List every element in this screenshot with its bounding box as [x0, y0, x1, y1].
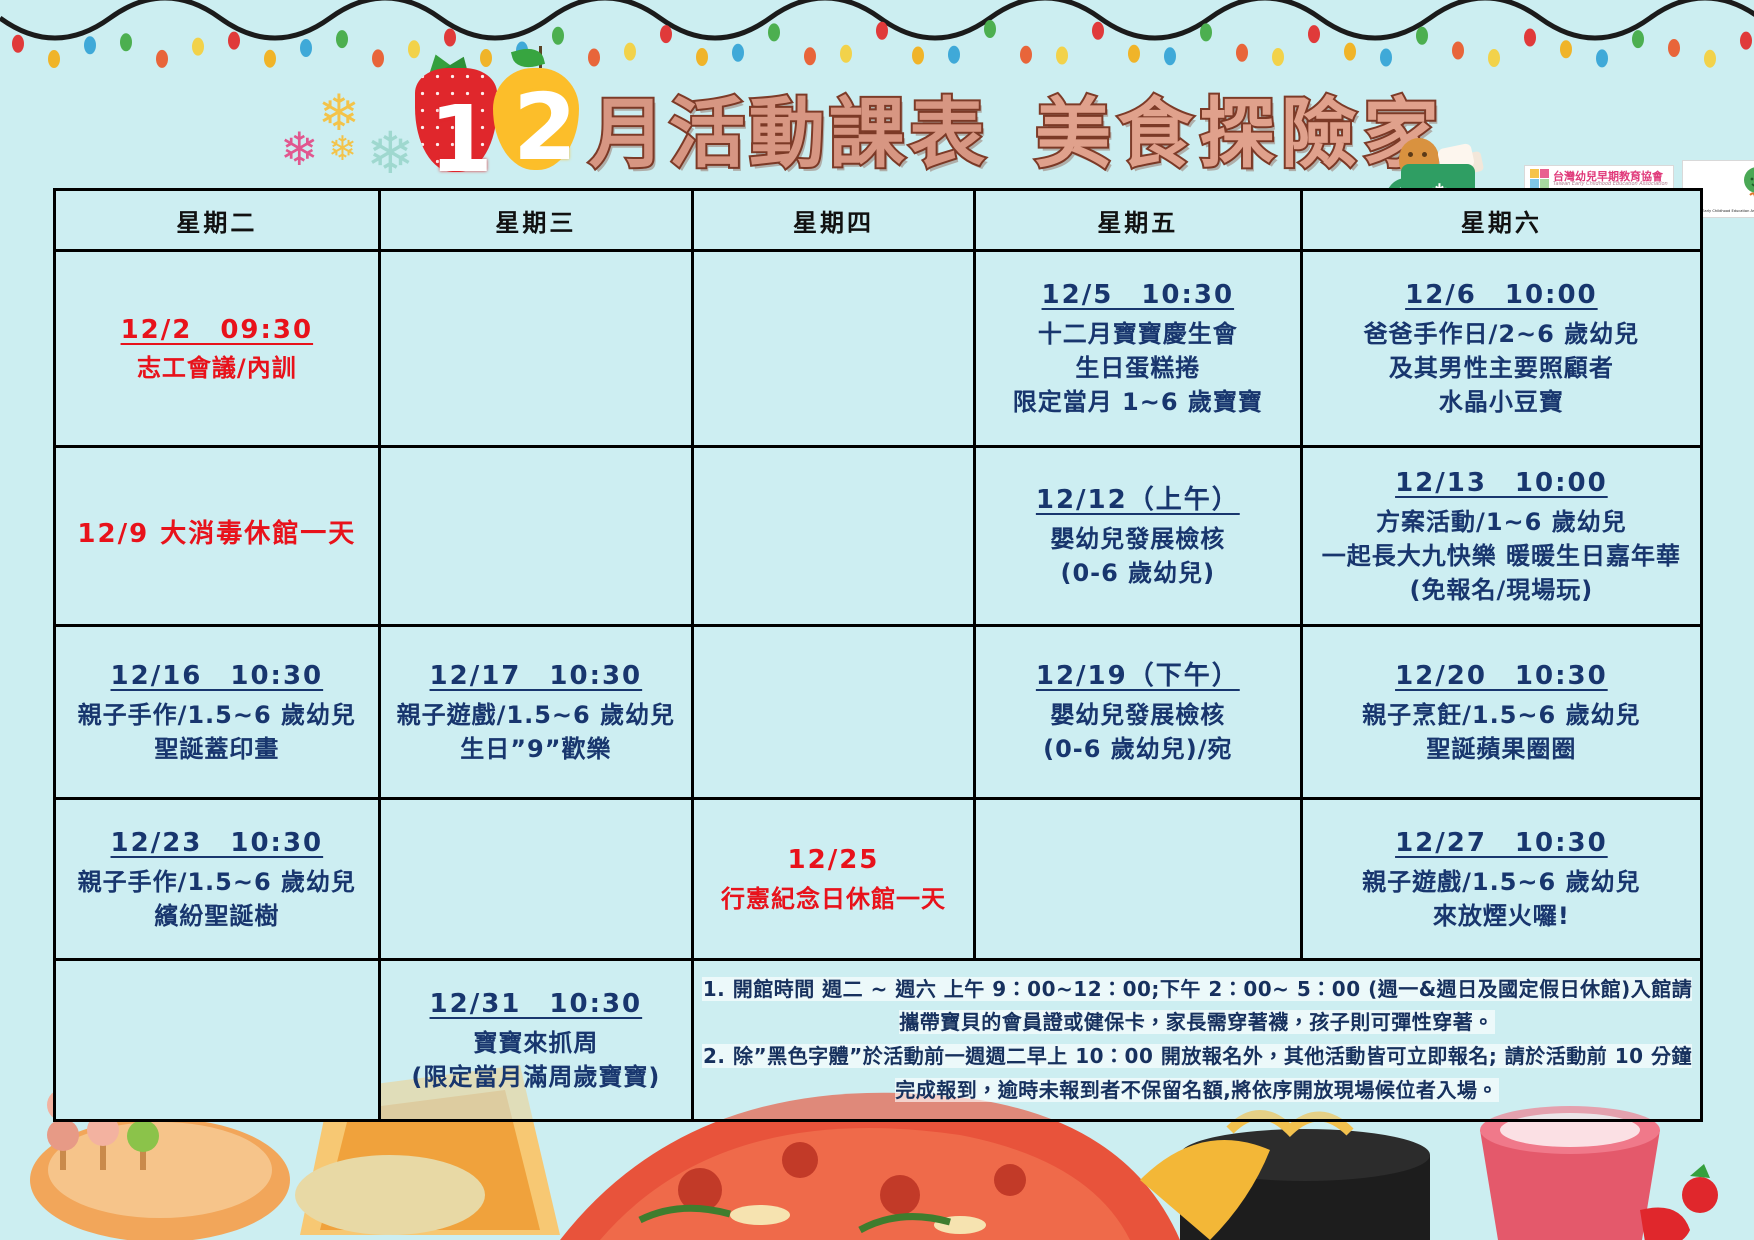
event-description-line: (限定當月滿周歲寶寶) [383, 1060, 689, 1094]
schedule-cell-wednesday-row3: 12/17 10:30親子遊戲/1.5~6 歲幼兒生日”9”歡樂 [379, 626, 692, 799]
light-bulb-icon [300, 39, 312, 57]
light-bulb-icon [660, 25, 672, 43]
event-description-line: 方案活動/1~6 歲幼兒 [1305, 505, 1698, 539]
event-description-line: 限定當月 1~6 歲寶寶 [978, 385, 1298, 419]
event-date-time: 12/20 10:30 [1395, 658, 1608, 695]
event-description-line: 來放煙火囉! [1305, 899, 1698, 933]
light-bulb-icon [1344, 43, 1356, 61]
event-description-line: 聖誕蓋印畫 [58, 732, 376, 766]
poster-title: 1 2 月活動課表 美食探險家 [415, 68, 1445, 186]
schedule-cell-friday-row3: 12/19（下午）嬰幼兒發展檢核(0-6 歲幼兒)/宛 [974, 626, 1301, 799]
event-date-time: 12/2 09:30 [121, 312, 314, 349]
light-bulb-icon [1092, 22, 1104, 40]
schedule-cell-wednesday-row5: 12/31 10:30寶寶來抓周(限定當月滿周歲寶寶) [379, 960, 692, 1121]
light-bulb-icon [444, 28, 456, 46]
light-bulb-icon [336, 30, 348, 48]
event-description-line: 生日”9”歡樂 [383, 732, 689, 766]
event-entry: 12/23 10:30親子手作/1.5~6 歲幼兒繽紛聖誕樹 [58, 825, 376, 933]
schedule-cell-wednesday-row1 [379, 251, 692, 447]
event-description-line: (0-6 歲幼兒) [978, 556, 1298, 590]
event-date-time: 12/23 10:30 [111, 825, 324, 862]
association-name-en: Taiwan Early Childhood Education Associa… [1553, 182, 1668, 187]
event-description-line: 親子手作/1.5~6 歲幼兒 [58, 698, 376, 732]
event-description-line: 行憲紀念日休館一天 [696, 882, 971, 916]
event-entry: 12/12（上午）嬰幼兒發展檢核(0-6 歲幼兒) [978, 482, 1298, 590]
event-description-line: (免報名/現場玩) [1305, 573, 1698, 607]
event-date-time: 12/17 10:30 [430, 658, 643, 695]
event-entry: 12/6 10:00爸爸手作日/2~6 歲幼兒及其男性主要照顧者水晶小豆寶 [1305, 277, 1698, 419]
schedule-cell-saturday-row2: 12/13 10:00方案活動/1~6 歲幼兒一起長大九快樂 暖暖生日嘉年華(免… [1301, 447, 1701, 626]
light-bulb-icon [120, 33, 132, 51]
event-entry: 12/27 10:30親子遊戲/1.5~6 歲幼兒來放煙火囉! [1305, 825, 1698, 933]
light-bulb-icon [984, 20, 996, 38]
footer-notes-cell: 1. 開館時間 週二 ~ 週六 上午 9：00~12：00;下午 2：00~ 5… [693, 960, 1702, 1121]
event-entry: 12/17 10:30親子遊戲/1.5~6 歲幼兒生日”9”歡樂 [383, 658, 689, 766]
event-description-line: 水晶小豆寶 [1305, 385, 1698, 419]
schedule-cell-tuesday-row3: 12/16 10:30親子手作/1.5~6 歲幼兒聖誕蓋印畫 [55, 626, 380, 799]
column-header-tuesday: 星期二 [55, 190, 380, 251]
schedule-cell-saturday-row1: 12/6 10:00爸爸手作日/2~6 歲幼兒及其男性主要照顧者水晶小豆寶 [1301, 251, 1701, 447]
event-entry: 12/25行憲紀念日休館一天 [696, 842, 971, 916]
event-date-time: 12/6 10:00 [1405, 277, 1598, 314]
event-date-time: 12/12（上午） [1036, 482, 1240, 519]
event-description-line: 生日蛋糕捲 [978, 351, 1298, 385]
column-header-wednesday: 星期三 [379, 190, 692, 251]
light-bulb-icon [408, 40, 420, 58]
month-number-fruit-graphic: 1 2 [415, 68, 581, 186]
event-description-line: 親子手作/1.5~6 歲幼兒 [58, 865, 376, 899]
event-date-time: 12/9 大消毒休館一天 [77, 516, 356, 553]
column-header-thursday: 星期四 [693, 190, 975, 251]
schedule-cell-wednesday-row4 [379, 799, 692, 960]
event-date-time: 12/27 10:30 [1395, 825, 1608, 862]
schedule-cell-saturday-row4: 12/27 10:30親子遊戲/1.5~6 歲幼兒來放煙火囉! [1301, 799, 1701, 960]
light-bulb-icon [1740, 32, 1752, 50]
schedule-cell-wednesday-row2 [379, 447, 692, 626]
light-bulb-icon [1560, 40, 1572, 58]
digit-two: 2 [513, 74, 577, 181]
snowflake-icon: ❄ [328, 132, 357, 166]
event-date-time: 12/19（下午） [1036, 658, 1240, 695]
light-bulb-icon [1200, 23, 1212, 41]
schedule-cell-thursday-row4: 12/25行憲紀念日休館一天 [693, 799, 975, 960]
table-row: 12/9 大消毒休館一天12/12（上午）嬰幼兒發展檢核(0-6 歲幼兒)12/… [55, 447, 1702, 626]
title-subtitle-text: 美食探險家 [1035, 72, 1445, 182]
event-description-line: 十二月寶寶慶生會 [978, 317, 1298, 351]
event-entry: 12/13 10:00方案活動/1~6 歲幼兒一起長大九快樂 暖暖生日嘉年華(免… [1305, 465, 1698, 607]
schedule-cell-tuesday-row5 [55, 960, 380, 1121]
schedule-cell-thursday-row2 [693, 447, 975, 626]
light-bulb-icon [1632, 30, 1644, 48]
light-bulb-icon [12, 35, 24, 53]
light-bulb-icon [192, 38, 204, 56]
orange-two-icon: 2 [495, 68, 581, 186]
light-bulb-icon [1416, 27, 1428, 45]
light-bulb-icon [1308, 25, 1320, 43]
schedule-cell-thursday-row1 [693, 251, 975, 447]
event-description-line: 及其男性主要照顧者 [1305, 351, 1698, 385]
light-bulb-icon [1524, 28, 1536, 46]
event-date-time: 12/31 10:30 [430, 986, 643, 1023]
event-entry: 12/19（下午）嬰幼兒發展檢核(0-6 歲幼兒)/宛 [978, 658, 1298, 766]
poster-header: ❄ ❄ ❄ ❄ 1 2 月活動課表 美食探險家 ❄ [0, 60, 1754, 185]
event-entry: 12/20 10:30親子烹飪/1.5~6 歲幼兒聖誕蘋果圈圈 [1305, 658, 1698, 766]
event-entry: 12/31 10:30寶寶來抓周(限定當月滿周歲寶寶) [383, 986, 689, 1094]
event-date-time: 12/25 [788, 842, 880, 879]
light-bulb-icon [624, 43, 636, 61]
table-body: 12/2 09:30志工會議/內訓12/5 10:30十二月寶寶慶生會生日蛋糕捲… [55, 251, 1702, 1121]
event-entry: 12/5 10:30十二月寶寶慶生會生日蛋糕捲限定當月 1~6 歲寶寶 [978, 277, 1298, 419]
column-header-friday: 星期五 [974, 190, 1301, 251]
event-description-line: 親子遊戲/1.5~6 歲幼兒 [383, 698, 689, 732]
table-row-last: 12/31 10:30寶寶來抓周(限定當月滿周歲寶寶)1. 開館時間 週二 ~ … [55, 960, 1702, 1121]
happy-tree-icon [1737, 165, 1754, 205]
event-description-line: 親子烹飪/1.5~6 歲幼兒 [1305, 698, 1698, 732]
schedule-cell-thursday-row3 [693, 626, 975, 799]
schedule-cell-friday-row1: 12/5 10:30十二月寶寶慶生會生日蛋糕捲限定當月 1~6 歲寶寶 [974, 251, 1301, 447]
snowflake-icon: ❄ [280, 126, 319, 172]
schedule-cell-tuesday-row4: 12/23 10:30親子手作/1.5~6 歲幼兒繽紛聖誕樹 [55, 799, 380, 960]
event-description-line: 嬰幼兒發展檢核 [978, 698, 1298, 732]
event-entry: 12/2 09:30志工會議/內訓 [58, 312, 376, 386]
table-row: 12/23 10:30親子手作/1.5~6 歲幼兒繽紛聖誕樹12/25行憲紀念日… [55, 799, 1702, 960]
strawberry-one-icon: 1 [415, 68, 501, 186]
light-bulb-icon [84, 36, 96, 54]
event-description-line: 繽紛聖誕樹 [58, 899, 376, 933]
event-description-line: 聖誕蘋果圈圈 [1305, 732, 1698, 766]
light-bulb-icon [1668, 39, 1680, 57]
schedule-cell-tuesday-row1: 12/2 09:30志工會議/內訓 [55, 251, 380, 447]
event-entry: 12/16 10:30親子手作/1.5~6 歲幼兒聖誕蓋印畫 [58, 658, 376, 766]
event-date-time: 12/5 10:30 [1042, 277, 1235, 314]
table-row: 12/16 10:30親子手作/1.5~6 歲幼兒聖誕蓋印畫12/17 10:3… [55, 626, 1702, 799]
digit-one: 1 [429, 86, 493, 193]
table-header-row: 星期二 星期三 星期四 星期五 星期六 [55, 190, 1702, 251]
light-bulb-icon [228, 32, 240, 50]
snowflake-icon: ❄ [366, 124, 415, 182]
event-description-line: 嬰幼兒發展檢核 [978, 522, 1298, 556]
schedule-cell-friday-row4 [974, 799, 1301, 960]
footer-note-2: 2. 除”黑色字體”於活動前一週週二早上 10：00 開放報名外，其他活動皆可立… [696, 1040, 1698, 1107]
event-description-line: 一起長大九快樂 暖暖生日嘉年華 [1305, 539, 1698, 573]
event-description-line: 寶寶來抓周 [383, 1026, 689, 1060]
event-description-line: 爸爸手作日/2~6 歲幼兒 [1305, 317, 1698, 351]
light-bulb-icon [1452, 42, 1464, 60]
event-date-time: 12/13 10:00 [1395, 465, 1608, 502]
schedule-cell-friday-row2: 12/12（上午）嬰幼兒發展檢核(0-6 歲幼兒) [974, 447, 1301, 626]
event-description-line: 親子遊戲/1.5~6 歲幼兒 [1305, 865, 1698, 899]
column-header-saturday: 星期六 [1301, 190, 1701, 251]
light-bulb-icon [552, 27, 564, 45]
schedule-cell-tuesday-row2: 12/9 大消毒休館一天 [55, 447, 380, 626]
schedule-cell-saturday-row3: 12/20 10:30親子烹飪/1.5~6 歲幼兒聖誕蘋果圈圈 [1301, 626, 1701, 799]
event-entry: 12/9 大消毒休館一天 [58, 516, 376, 556]
event-description-line: 志工會議/內訓 [58, 351, 376, 385]
event-date-time: 12/16 10:30 [111, 658, 324, 695]
footer-note-1: 1. 開館時間 週二 ~ 週六 上午 9：00~12：00;下午 2：00~ 5… [696, 973, 1698, 1040]
table-row: 12/2 09:30志工會議/內訓12/5 10:30十二月寶寶慶生會生日蛋糕捲… [55, 251, 1702, 447]
light-bulb-icon [768, 23, 780, 41]
schedule-table: 星期二 星期三 星期四 星期五 星期六 12/2 09:30志工會議/內訓12/… [53, 188, 1703, 1122]
event-description-line: (0-6 歲幼兒)/宛 [978, 732, 1298, 766]
light-bulb-icon [876, 22, 888, 40]
title-main-text: 月活動課表 [589, 72, 989, 182]
